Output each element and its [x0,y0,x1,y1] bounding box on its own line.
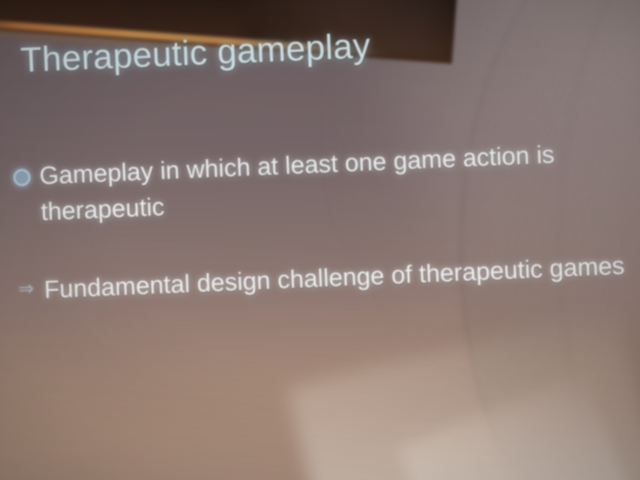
slide-title: Therapeutic gameplay [20,26,372,81]
list-item: ⇒ Fundamental design challenge of therap… [17,248,630,310]
ring-bullet-icon [13,164,40,195]
double-arrow-icon: ⇒ [17,274,44,305]
slide-bullet-list: Gameplay in which at least one game acti… [13,134,633,351]
list-item: Gameplay in which at least one game acti… [13,134,627,232]
projected-slide-photo: Therapeutic gameplay Gameplay in which a… [0,0,640,480]
bullet-text: Gameplay in which at least one game acti… [39,134,628,230]
ring-bullet-glyph [13,169,31,187]
bullet-text: Fundamental design challenge of therapeu… [43,248,630,309]
